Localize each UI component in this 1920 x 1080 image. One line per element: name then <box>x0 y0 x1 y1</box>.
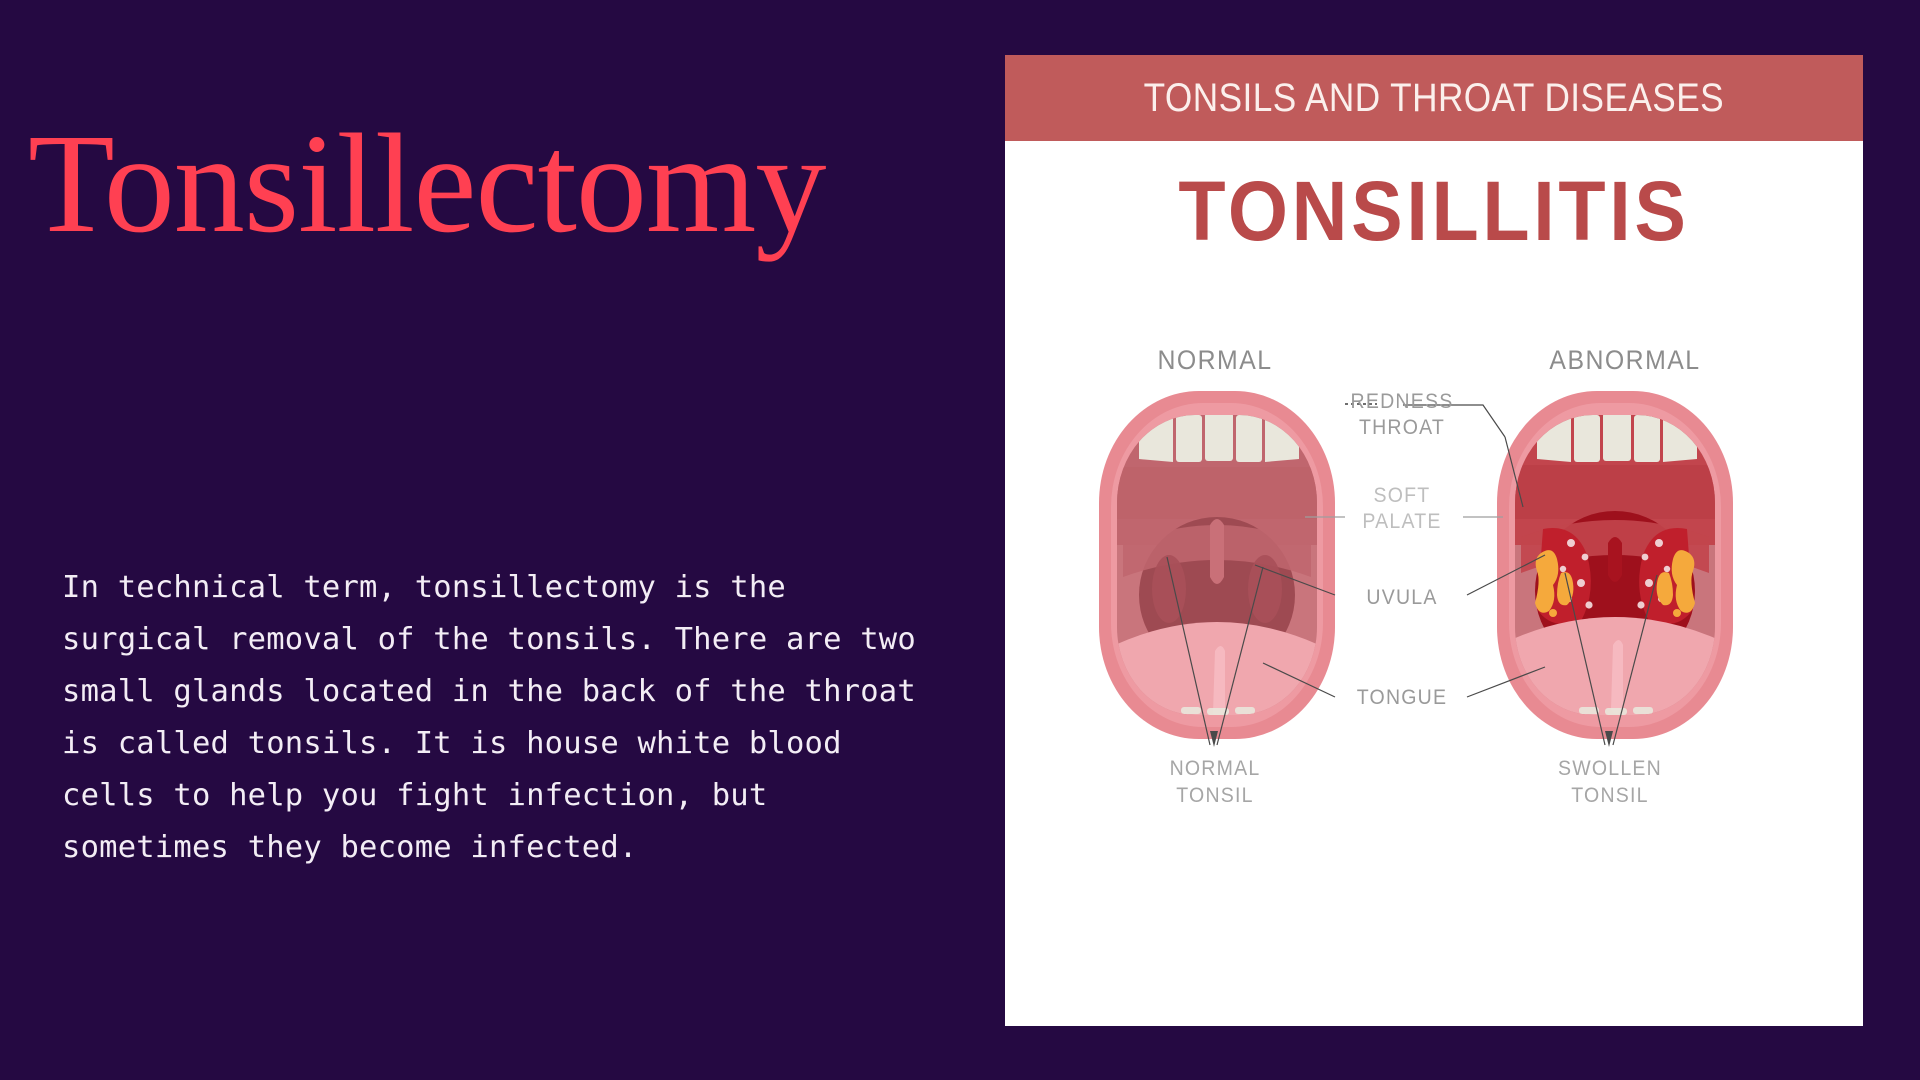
illustration-panel: TONSILS AND THROAT DISEASES TONSILLITIS … <box>1005 55 1863 1026</box>
annotation-tongue: TONGUE <box>1343 685 1460 711</box>
annotation-redness-throat: REDNESS THROAT <box>1342 389 1463 441</box>
leader-lines <box>1005 55 1863 1026</box>
annotation-soft-palate: SOFT PALATE <box>1343 483 1460 535</box>
annotation-uvula: UVULA <box>1343 585 1460 611</box>
slide: Tonsillectomy In technical term, tonsill… <box>0 0 1920 1080</box>
bottom-label-swollen-tonsil: SWOLLEN TONSIL <box>1494 755 1727 809</box>
bottom-label-normal-tonsil: NORMAL TONSIL <box>1103 755 1326 809</box>
body-paragraph: In technical term, tonsillectomy is the … <box>62 562 942 874</box>
page-title: Tonsillectomy <box>28 112 825 254</box>
